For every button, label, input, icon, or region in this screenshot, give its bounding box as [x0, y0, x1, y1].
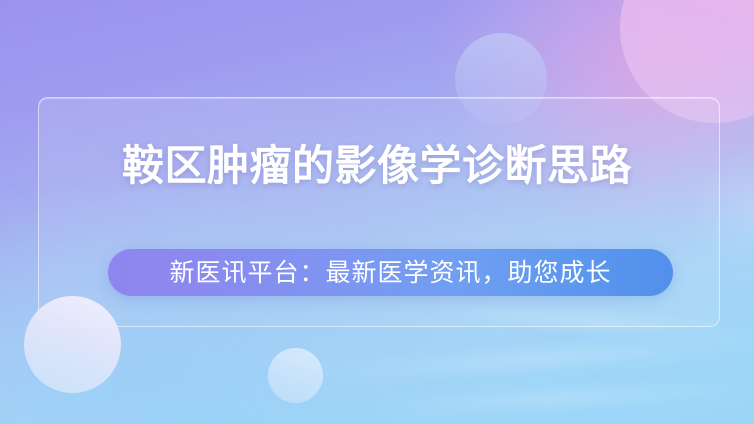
title-slide: 鞍区肿瘤的影像学诊断思路 新医讯平台：最新医学资讯，助您成长 — [0, 0, 754, 424]
light-streak-lower — [300, 336, 754, 383]
light-streak-upper — [430, 303, 754, 343]
pink-glow-overlay — [430, 0, 754, 240]
light-streak-bottom — [360, 381, 754, 414]
small-blue-circle-decoration-bottom — [268, 348, 323, 403]
pink-circle-decoration-top-right — [620, 0, 754, 123]
blue-glow-overlay — [0, 170, 460, 424]
blue-circle-decoration-top — [455, 33, 547, 125]
page-title: 鞍区肿瘤的影像学诊断思路 — [0, 141, 754, 191]
white-circle-decoration-bottom-left — [24, 296, 121, 393]
subtitle-text: 新医讯平台：最新医学资讯，助您成长 — [169, 249, 611, 296]
subtitle-banner: 新医讯平台：最新医学资讯，助您成长 — [108, 249, 673, 296]
